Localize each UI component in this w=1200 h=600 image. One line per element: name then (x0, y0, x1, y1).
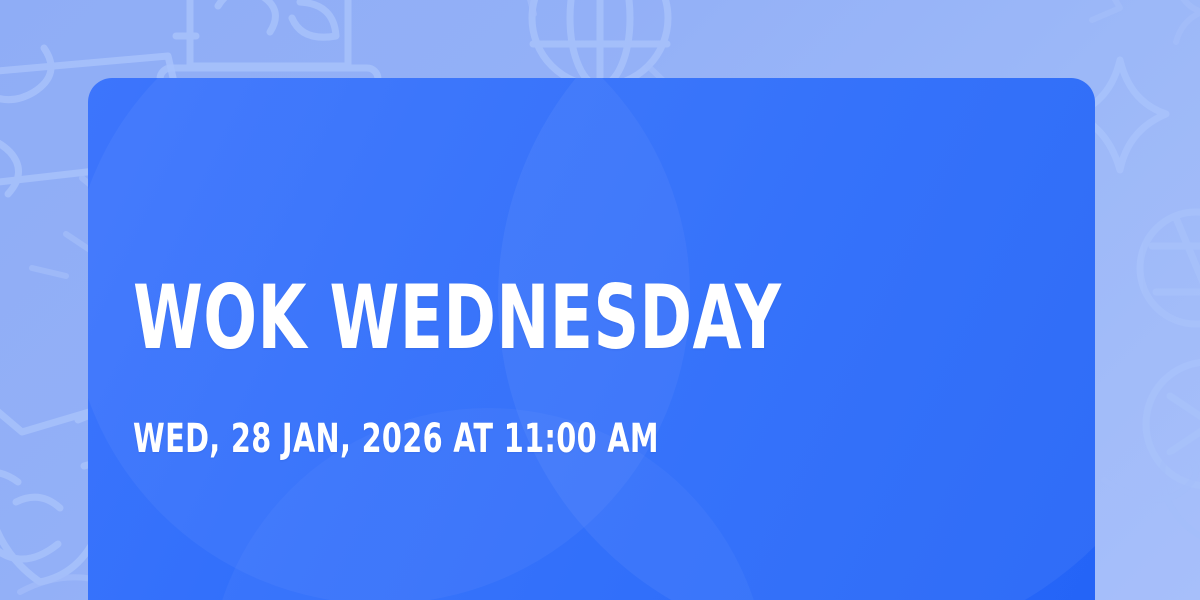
event-title: WOK WEDNESDAY (133, 274, 781, 362)
globe-icon (532, 0, 668, 86)
squiggle-line-icon (1104, 457, 1200, 548)
flag-corner-icon (1092, 0, 1120, 20)
event-datetime: WED, 28 JAN, 2026 AT 11:00 AM (133, 419, 659, 459)
balloon-icon (1140, 212, 1200, 324)
diagonal-dash-icon (528, 0, 534, 14)
event-card-content: WOK WEDNESDAY WED, 28 JAN, 2026 AT 11:00… (133, 78, 1050, 600)
sparkle-small-icon (1176, 0, 1200, 42)
play-button-icon (1146, 362, 1200, 486)
event-card[interactable]: WOK WEDNESDAY WED, 28 JAN, 2026 AT 11:00… (88, 78, 1095, 600)
laptop-icon (160, 0, 378, 90)
event-banner: WOK WEDNESDAY WED, 28 JAN, 2026 AT 11:00… (0, 0, 1200, 600)
